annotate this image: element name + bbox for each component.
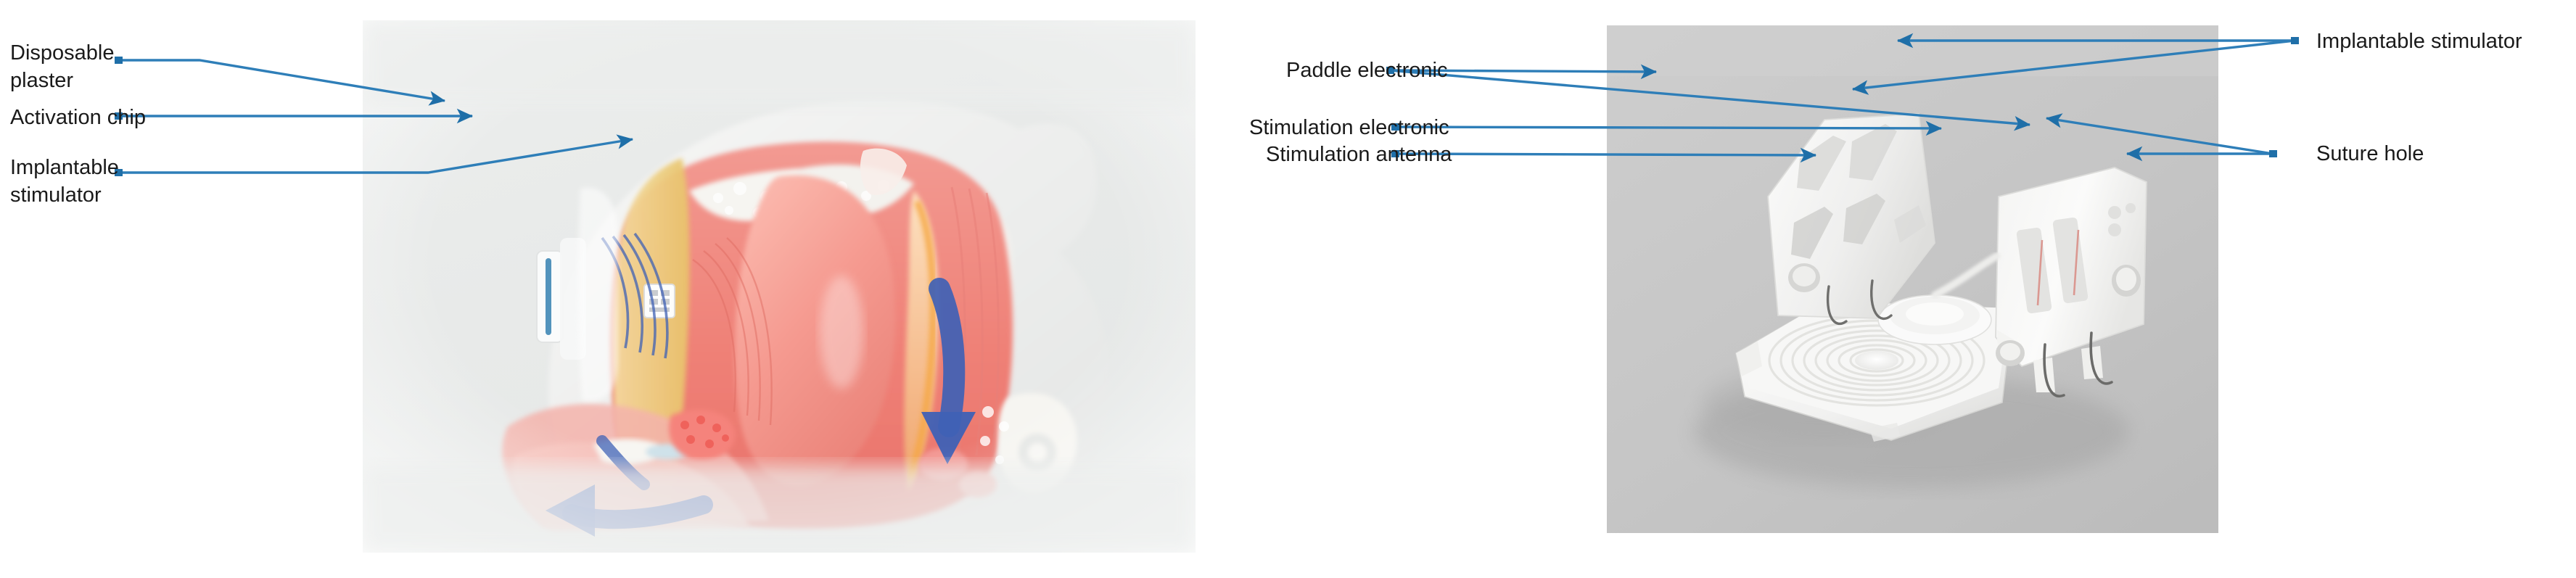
label-disposable-plaster: Disposable plaster [10, 39, 114, 94]
anatomy-artwork [363, 20, 1196, 553]
label-implantable-stimulator-right: Implantable stimulator [2316, 28, 2522, 55]
label-paddle-electronic: Paddle electronic [1286, 57, 1447, 84]
anatomical-cross-section-panel [363, 20, 1196, 553]
stimulation-electronic-module [1878, 295, 1991, 344]
medical-device-figure: Disposable plaster Activation chip Impla… [0, 0, 2576, 578]
label-stimulation-antenna: Stimulation antenna [1266, 141, 1452, 168]
label-implantable-stimulator-left: Implantable stimulator [10, 154, 119, 209]
label-suture-hole: Suture hole [2316, 140, 2424, 168]
device-artwork [1607, 25, 2218, 533]
implant-device-photo-panel [1607, 25, 2218, 533]
label-activation-chip: Activation chip [10, 104, 146, 131]
label-stimulation-electronic: Stimulation electronic [1249, 114, 1449, 141]
